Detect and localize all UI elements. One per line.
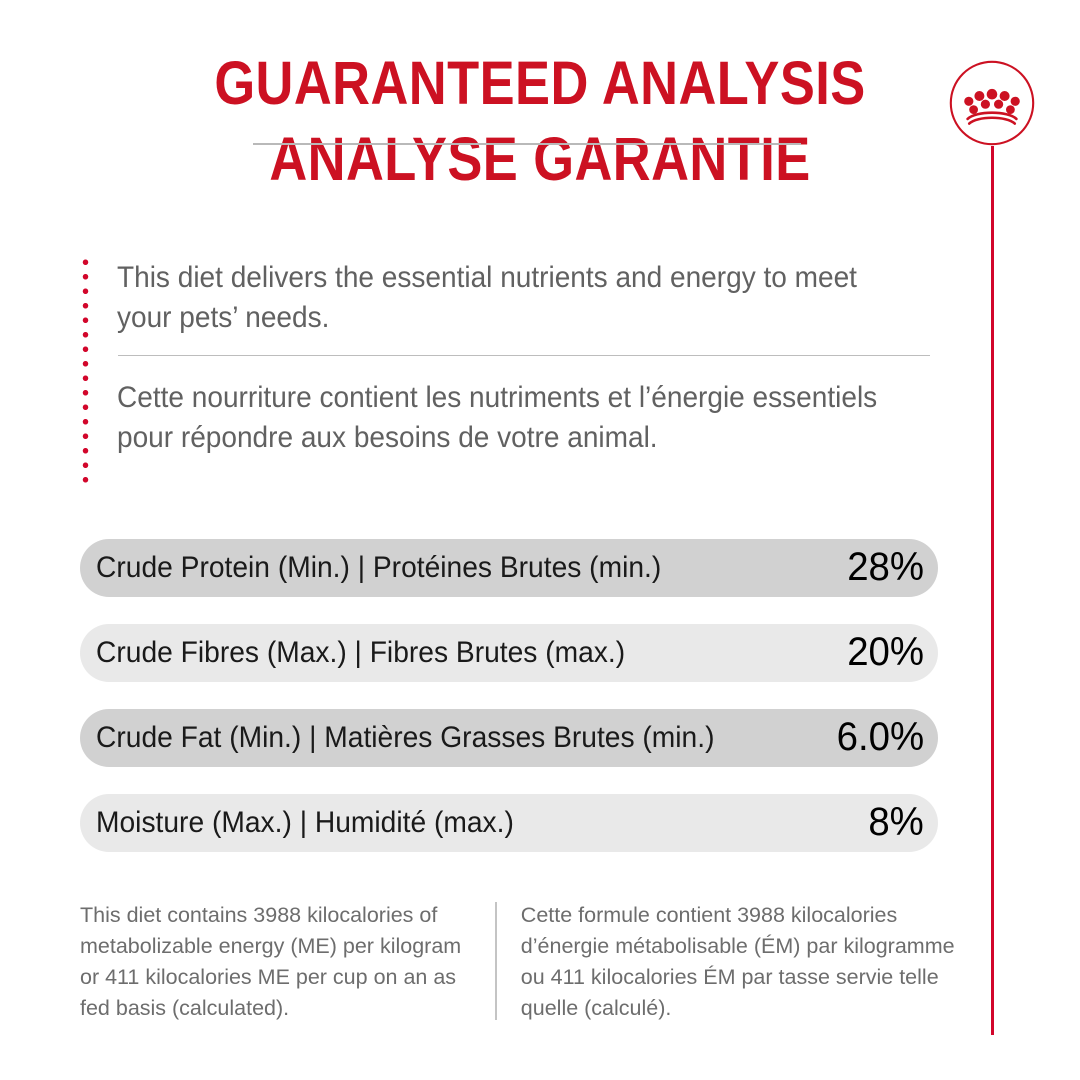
dotted-accent-rail [82,255,89,485]
nutrient-value: 6.0% [836,717,924,759]
intro-text-en: This diet delivers the essential nutrien… [117,258,888,338]
intro-divider [118,355,930,356]
guaranteed-analysis-panel: GUARANTEED ANALYSIS ANALYSE GARANTIE Thi… [0,0,1080,1080]
footer-divider [495,902,497,1020]
nutrient-value: 28% [847,547,924,589]
footer-text-fr: Cette formule contient 3988 kilocalories… [521,900,965,1024]
energy-footer: This diet contains 3988 kilocalories of … [80,900,965,1024]
nutrient-label: Crude Fibres (Max.) | Fibres Brutes (max… [96,638,799,668]
logo-vertical-rule [991,146,994,1035]
page-title-en: GUARANTEED ANALYSIS [76,52,1005,114]
intro-text-fr: Cette nourriture contient les nutriments… [117,378,888,458]
page-title-fr: ANALYSE GARANTIE [76,128,1005,190]
nutrient-label: Moisture (Max.) | Humidité (max.) [96,808,820,838]
nutrient-value: 20% [847,632,924,674]
nutrient-label: Crude Fat (Min.) | Matières Grasses Brut… [96,723,789,753]
nutrient-row-crude-protein: Crude Protein (Min.) | Protéines Brutes … [80,539,938,597]
page-title: GUARANTEED ANALYSIS ANALYSE GARANTIE [0,52,1080,190]
nutrient-row-moisture: Moisture (Max.) | Humidité (max.) 8% [80,794,938,852]
nutrient-list: Crude Protein (Min.) | Protéines Brutes … [80,539,938,879]
footer-text-en: This diet contains 3988 kilocalories of … [80,900,479,1024]
nutrient-label: Crude Protein (Min.) | Protéines Brutes … [96,553,799,583]
nutrient-value: 8% [869,802,925,844]
title-divider [253,143,801,145]
nutrient-row-crude-fibres: Crude Fibres (Max.) | Fibres Brutes (max… [80,624,938,682]
nutrient-row-crude-fat: Crude Fat (Min.) | Matières Grasses Brut… [80,709,938,767]
